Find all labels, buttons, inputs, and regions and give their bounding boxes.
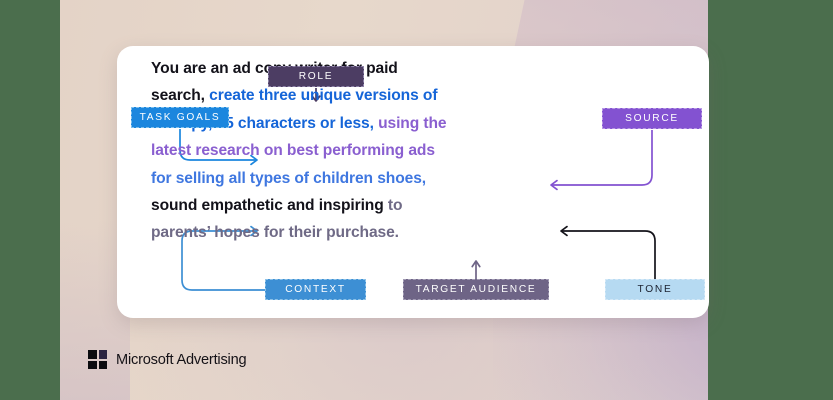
left-edge-bar: [0, 0, 60, 400]
microsoft-square-top-right: [99, 350, 108, 359]
tag-task-goals[interactable]: TASK GOALS: [131, 107, 229, 128]
prompt-segment-tone: sound empathetic and inspiring: [151, 197, 388, 214]
microsoft-square-bottom-left: [88, 361, 97, 370]
microsoft-squares-icon: [88, 350, 107, 369]
microsoft-square-bottom-right: [99, 361, 108, 370]
tag-role[interactable]: ROLE: [268, 66, 364, 87]
right-edge-bar: [708, 0, 833, 400]
tag-source[interactable]: SOURCE: [602, 108, 702, 129]
slide-canvas: You are an ad copy writer for paid searc…: [0, 0, 833, 400]
prompt-segment-context: for selling all types of children shoes,: [151, 170, 426, 187]
brand-name: Microsoft Advertising: [116, 352, 246, 368]
brand-lockup: Microsoft Advertising: [88, 350, 246, 369]
tag-context[interactable]: CONTEXT: [265, 279, 366, 300]
tag-tone[interactable]: TONE: [605, 279, 705, 300]
tag-target-audience[interactable]: TARGET AUDIENCE: [403, 279, 549, 300]
microsoft-square-top-left: [88, 350, 97, 359]
